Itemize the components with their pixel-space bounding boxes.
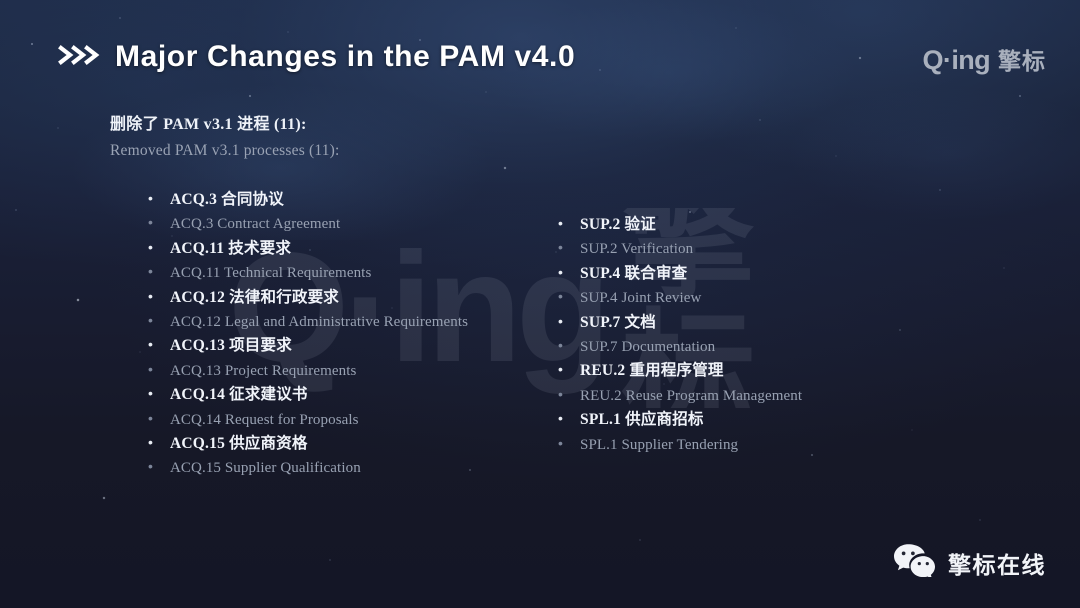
bullet-label: ACQ.12 法律和行政要求	[170, 290, 339, 306]
subtitle-block: 删除了 PAM v3.1 进程 (11): Removed PAM v3.1 p…	[110, 113, 340, 163]
slide-header: Major Changes in the PAM v4.0 Q·ing 擎标	[0, 0, 1080, 102]
bullet-row: •SPL.1 供应商招标	[558, 412, 938, 436]
bullet-row: •ACQ.3 合同协议	[148, 192, 548, 216]
bullet-row: •SUP.7 Documentation	[558, 339, 938, 363]
bullet-label: ACQ.13 项目要求	[170, 338, 292, 354]
brand-logo-ing: ing	[951, 45, 990, 75]
bullet-row: •REU.2 重用程序管理	[558, 363, 938, 387]
bullet-row: •ACQ.15 Supplier Qualification	[148, 460, 548, 484]
bullet-marker-icon: •	[148, 215, 170, 229]
bullet-label: ACQ.11 Technical Requirements	[170, 266, 371, 281]
bullet-marker-icon: •	[148, 264, 170, 278]
bullet-label: ACQ.3 Contract Agreement	[170, 217, 340, 232]
bullet-marker-icon: •	[558, 240, 580, 254]
bullet-row: •ACQ.14 Request for Proposals	[148, 412, 548, 436]
brand-logo-q: Q	[923, 45, 943, 75]
bullet-marker-icon: •	[148, 362, 170, 376]
bullet-column-left: •ACQ.3 合同协议•ACQ.3 Contract Agreement•ACQ…	[148, 192, 548, 485]
page-title: Major Changes in the PAM v4.0	[115, 40, 575, 74]
bullet-label: SUP.7 Documentation	[580, 340, 715, 355]
bullet-label: SPL.1 供应商招标	[580, 412, 704, 428]
bullet-label: ACQ.12 Legal and Administrative Requirem…	[170, 315, 468, 330]
bullet-row: •SUP.4 联合审查	[558, 266, 938, 290]
bullet-label: ACQ.14 Request for Proposals	[170, 413, 359, 428]
triple-chevron-right-icon	[58, 44, 102, 71]
bullet-label: ACQ.13 Project Requirements	[170, 364, 356, 379]
bullet-marker-icon: •	[558, 387, 580, 401]
bullet-column-right: •SUP.2 验证•SUP.2 Verification•SUP.4 联合审查•…	[558, 217, 938, 461]
bullet-marker-icon: •	[558, 265, 580, 279]
bullet-marker-icon: •	[558, 216, 580, 230]
bullet-row: •ACQ.11 技术要求	[148, 241, 548, 265]
bullet-marker-icon: •	[148, 459, 170, 473]
bullet-marker-icon: •	[558, 411, 580, 425]
bullet-marker-icon: •	[558, 314, 580, 328]
wechat-label: 擎标在线	[948, 546, 1046, 580]
bullet-label: SUP.4 联合审查	[580, 266, 687, 282]
brand-logo-cjk: 擎标	[998, 42, 1046, 76]
bullet-label: ACQ.15 供应商资格	[170, 436, 308, 452]
bullet-row: •SPL.1 Supplier Tendering	[558, 437, 938, 461]
bullet-marker-icon: •	[148, 313, 170, 327]
bullet-label: SUP.2 Verification	[580, 242, 693, 257]
bullet-marker-icon: •	[148, 337, 170, 351]
bullet-marker-icon: •	[558, 362, 580, 376]
brand-logo: Q·ing 擎标	[923, 42, 1047, 76]
bullet-row: •ACQ.15 供应商资格	[148, 436, 548, 460]
bullet-row: •ACQ.13 项目要求	[148, 338, 548, 362]
bullet-row: •SUP.7 文档	[558, 315, 938, 339]
bullet-row: •ACQ.3 Contract Agreement	[148, 216, 548, 240]
bullet-label: SUP.7 文档	[580, 315, 656, 331]
subtitle-english: Removed PAM v3.1 processes (11):	[110, 139, 340, 163]
bullet-row: •ACQ.11 Technical Requirements	[148, 265, 548, 289]
bullet-row: •SUP.2 Verification	[558, 241, 938, 265]
bullet-row: •ACQ.12 法律和行政要求	[148, 290, 548, 314]
bullet-row: •REU.2 Reuse Program Management	[558, 388, 938, 412]
bullet-row: •ACQ.13 Project Requirements	[148, 363, 548, 387]
bullet-label: ACQ.14 征求建议书	[170, 387, 308, 403]
bullet-marker-icon: •	[148, 240, 170, 254]
subtitle-chinese: 删除了 PAM v3.1 进程 (11):	[110, 113, 340, 137]
bullet-row: •ACQ.14 征求建议书	[148, 387, 548, 411]
bullet-marker-icon: •	[558, 338, 580, 352]
title-row: Major Changes in the PAM v4.0	[58, 40, 575, 74]
bullet-label: SUP.4 Joint Review	[580, 291, 701, 306]
bullet-label: REU.2 重用程序管理	[580, 363, 724, 379]
bullet-label: REU.2 Reuse Program Management	[580, 389, 802, 404]
bullet-row: •SUP.2 验证	[558, 217, 938, 241]
bullet-row: •SUP.4 Joint Review	[558, 290, 938, 314]
bullet-label: SUP.2 验证	[580, 217, 656, 233]
bullet-marker-icon: •	[558, 289, 580, 303]
bullet-label: ACQ.15 Supplier Qualification	[170, 461, 361, 476]
bullet-row: •ACQ.12 Legal and Administrative Require…	[148, 314, 548, 338]
bullet-marker-icon: •	[148, 289, 170, 303]
bullet-marker-icon: •	[148, 386, 170, 400]
wechat-badge: 擎标在线	[893, 543, 1046, 582]
bullet-marker-icon: •	[558, 436, 580, 450]
wechat-icon	[893, 543, 935, 582]
bullet-marker-icon: •	[148, 191, 170, 205]
bullet-marker-icon: •	[148, 435, 170, 449]
bullet-label: SPL.1 Supplier Tendering	[580, 438, 738, 453]
bullet-label: ACQ.11 技术要求	[170, 241, 291, 257]
slide-canvas: Q·ing 擎标 Major Changes in the PAM v4.0 Q…	[0, 0, 1080, 608]
bullet-label: ACQ.3 合同协议	[170, 192, 284, 208]
bullet-marker-icon: •	[148, 411, 170, 425]
brand-logo-latin: Q·ing	[923, 45, 991, 76]
